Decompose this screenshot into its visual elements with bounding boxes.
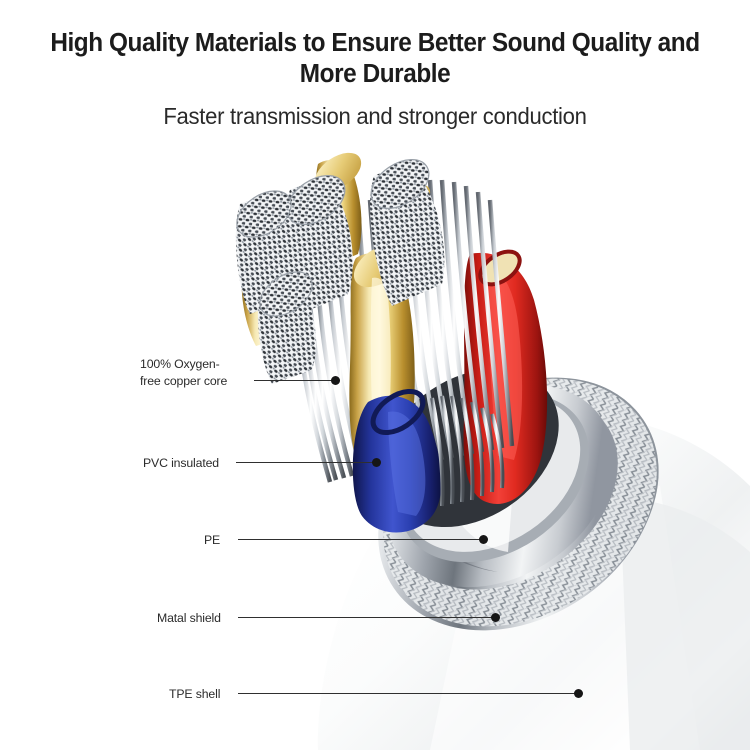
callout-endpoint-dot-copper-core: [331, 376, 340, 385]
callout-leader-line-tpe-shell: [238, 693, 576, 694]
callout-leader-line-copper-core: [254, 380, 332, 381]
callout-label-pe: PE: [204, 532, 220, 548]
callout-leader-line-pvc-insulated: [236, 462, 373, 463]
callout-label-pvc-insulated: PVC insulated: [143, 455, 219, 471]
callout-endpoint-dot-pvc-insulated: [372, 458, 381, 467]
callout-label-metal-shield: Matal shield: [157, 610, 221, 626]
callout-endpoint-dot-pe: [479, 535, 488, 544]
callout-label-tpe-shell: TPE shell: [169, 686, 220, 702]
cable-svg: [0, 0, 750, 750]
callout-endpoint-dot-tpe-shell: [574, 689, 583, 698]
callout-leader-line-pe: [238, 539, 481, 540]
cable-cutaway-illustration: [0, 0, 750, 750]
callout-label-copper-core: 100% Oxygen- free copper core: [140, 356, 250, 390]
callout-leader-line-metal-shield: [238, 617, 493, 618]
callout-endpoint-dot-metal-shield: [491, 613, 500, 622]
